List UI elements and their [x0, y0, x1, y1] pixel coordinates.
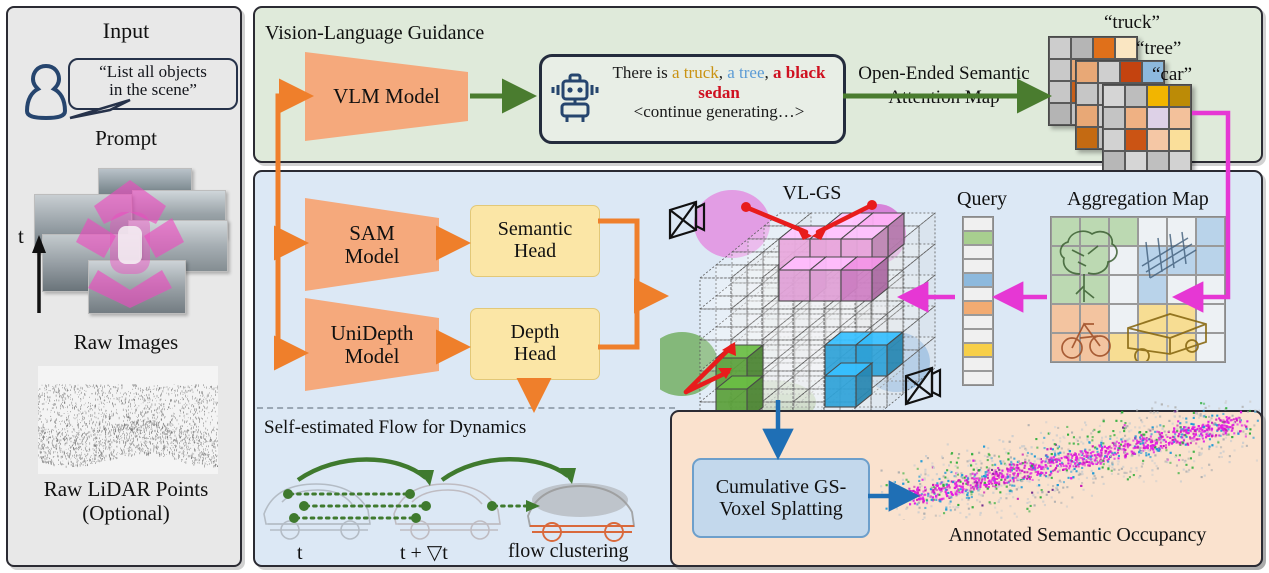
semantic-attention-map-stack: “truck” “tree” “car”: [1048, 26, 1208, 166]
prompt-text: “List all objects in the scene”: [70, 63, 236, 99]
aggregation-map-icons: [1050, 216, 1224, 361]
annotated-occupancy-label: Annotated Semantic Occupancy: [900, 524, 1255, 547]
vlgs-voxel-cube: [660, 186, 950, 416]
truck-icon: [1128, 314, 1206, 361]
vlm-model-block[interactable]: VLM Model: [303, 50, 470, 143]
vlm-output-box: There is a truck, a tree, a black sedan<…: [539, 54, 846, 144]
vlm-out-continue: <continue generating…>: [634, 102, 805, 121]
raw-images-stack: [28, 168, 228, 328]
bicycle-icon: [1062, 324, 1110, 358]
depth-head-block[interactable]: Depth Head: [470, 308, 600, 380]
occupancy-point-cloud-icon: [880, 400, 1260, 520]
bubble-tail-icon: [64, 98, 134, 122]
vlm-out-comma2: ,: [765, 63, 774, 82]
sam-model-block[interactable]: SAM Model: [303, 196, 441, 293]
person-icon: [24, 62, 68, 120]
attention-word-truck: “truck”: [1104, 12, 1160, 34]
flow-label-t-delta: t + ▽t: [400, 540, 448, 565]
vlm-out-comma1: ,: [719, 63, 728, 82]
vlm-output-text: There is a truck, a tree, a black sedan<…: [600, 63, 838, 122]
attention-word-car: “car”: [1152, 64, 1192, 86]
attention-arrow-label: Open-Ended Semantic Attention Map: [836, 62, 1052, 110]
flow-section-title: Self-estimated Flow for Dynamics: [264, 417, 526, 439]
input-panel-title: Input: [8, 18, 244, 44]
query-vector[interactable]: [962, 216, 994, 386]
voxel-cube-icon: [660, 186, 950, 416]
fence-icon: [1142, 232, 1196, 278]
robot-icon: [551, 73, 599, 125]
vlm-out-prefix: There is: [613, 63, 672, 82]
cumulative-gs-voxel-splatting-block[interactable]: Cumulative GS- Voxel Splatting: [692, 458, 870, 538]
attention-word-tree: “tree”: [1136, 38, 1181, 60]
flow-section-divider: [257, 407, 675, 409]
unidepth-model-block[interactable]: UniDepth Model: [303, 296, 441, 393]
semantic-head-block[interactable]: Semantic Head: [470, 205, 600, 277]
vlm-model-label: VLM Model: [303, 50, 470, 143]
time-axis-arrow: [26, 223, 52, 315]
lidar-point-cloud: [38, 366, 218, 474]
query-label: Query: [938, 188, 1026, 211]
vision-language-guidance-title: Vision-Language Guidance: [265, 22, 484, 45]
flow-label-t: t: [297, 542, 303, 565]
lidar-label: Raw LiDAR Points (Optional): [8, 478, 244, 525]
vlm-out-truck: a truck: [672, 63, 719, 82]
aggregation-map-label: Aggregation Map: [1040, 188, 1236, 211]
prompt-row: “List all objects in the scene”: [16, 60, 236, 122]
input-panel: Input “List all objects in the scene” Pr…: [6, 6, 242, 567]
flow-label-clustering: flow clustering: [508, 540, 629, 563]
vlm-out-tree: a tree: [727, 63, 764, 82]
unidepth-model-label: UniDepth Model: [303, 296, 441, 393]
attention-map-car: [1102, 84, 1192, 174]
lidar-points-icon: [38, 366, 218, 474]
sam-model-label: SAM Model: [303, 196, 441, 293]
annotated-occupancy-visualization: [880, 400, 1260, 520]
prompt-label: Prompt: [8, 126, 244, 151]
time-axis-label: t: [18, 224, 24, 249]
figure-root: Input “List all objects in the scene” Pr…: [0, 0, 1269, 573]
tree-icon: [1061, 231, 1117, 302]
raw-images-label: Raw Images: [8, 330, 244, 355]
ego-vehicle-overlay: [70, 172, 190, 318]
